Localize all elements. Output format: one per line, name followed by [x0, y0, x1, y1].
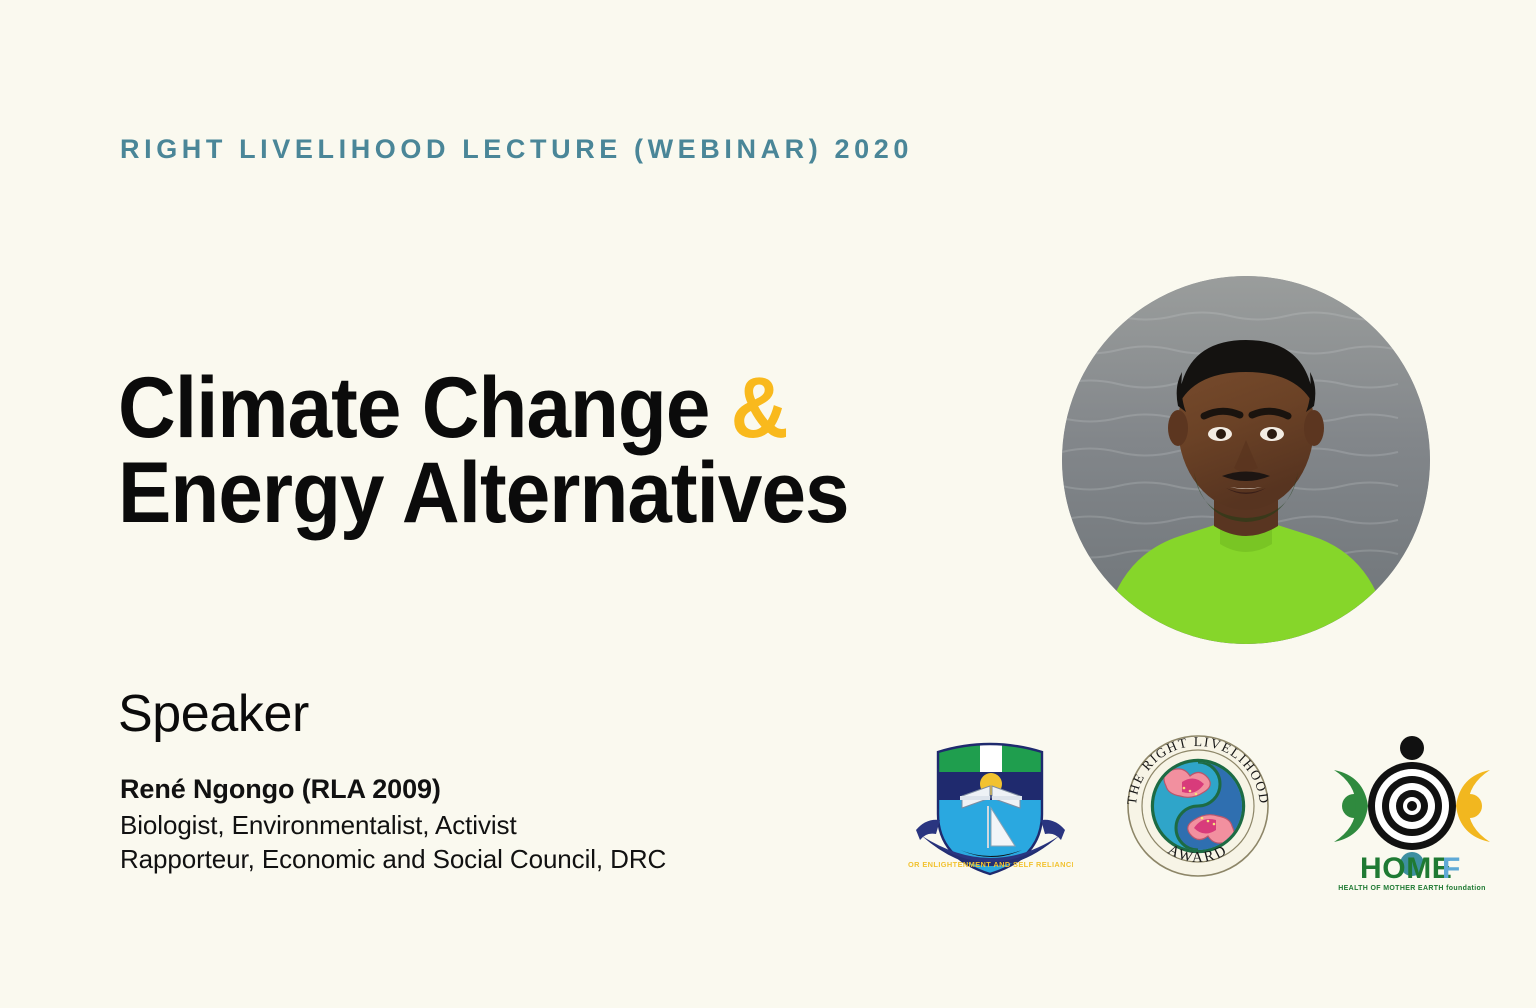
- homef-logo: HOME F HEALTH OF MOTHER EARTH foundation: [1332, 726, 1492, 894]
- uniport-motto-text: FOR ENLIGHTENMENT AND SELF RELIANCE: [908, 860, 1073, 869]
- lecture-series-kicker: RIGHT LIVELIHOOD LECTURE (WEBINAR) 2020: [120, 134, 913, 165]
- uniport-crest-icon: FOR ENLIGHTENMENT AND SELF RELIANCE: [908, 726, 1073, 886]
- homef-wordmark-dark: HOME: [1360, 852, 1452, 885]
- right-livelihood-award-logo: THE RIGHT LIVELIHOOD AWARD: [1118, 726, 1286, 886]
- portrait-illustration: [1062, 276, 1430, 644]
- speaker-details: René Ngongo (RLA 2009) Biologist, Enviro…: [120, 772, 666, 877]
- page-title: Climate Change & Energy Alternatives: [118, 366, 998, 536]
- right-livelihood-award-icon: THE RIGHT LIVELIHOOD AWARD: [1118, 726, 1286, 886]
- speaker-portrait-photo: [1062, 276, 1430, 644]
- homef-target-rings: [1368, 762, 1456, 850]
- homef-wordmark-light: F: [1442, 852, 1460, 885]
- uniport-crest-logo: FOR ENLIGHTENMENT AND SELF RELIANCE: [908, 726, 1073, 886]
- speaker-role-line-1: Biologist, Environmentalist, Activist: [120, 808, 666, 843]
- speaker-name: René Ngongo (RLA 2009): [120, 772, 666, 808]
- speaker-section-heading: Speaker: [118, 684, 309, 744]
- partner-logos: FOR ENLIGHTENMENT AND SELF RELIANCE: [900, 726, 1490, 896]
- page-title-line-1: Climate Change &: [118, 366, 936, 451]
- page-title-line-2: Energy Alternatives: [118, 451, 936, 536]
- slide-root: { "slide": { "background_color": "#faf9e…: [0, 0, 1536, 1008]
- homef-tagline: HEALTH OF MOTHER EARTH foundation: [1338, 885, 1486, 892]
- homef-icon: HOME F HEALTH OF MOTHER EARTH foundation: [1332, 726, 1492, 894]
- page-title-line-1-text: Climate Change: [118, 360, 731, 456]
- title-ampersand: &: [731, 360, 788, 456]
- speaker-role-line-2: Rapporteur, Economic and Social Council,…: [120, 842, 666, 877]
